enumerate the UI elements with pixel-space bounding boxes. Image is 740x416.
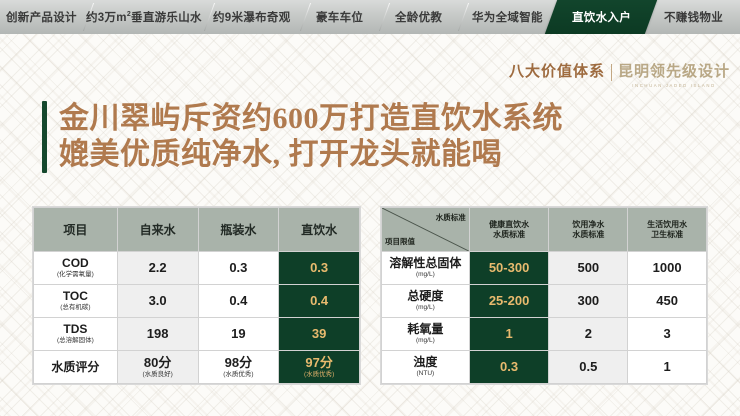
data-cell: 500 (549, 252, 628, 285)
cell-value: 300 (549, 294, 627, 308)
table-row: 浊度(NTU)0.30.51 (382, 351, 707, 384)
cell-value: 25-200 (470, 294, 549, 308)
cell-content: 1 (628, 360, 706, 374)
brand-subtitle-group: 昆明领先级设计 INCHUAN JADED ISLAND (618, 62, 730, 88)
data-cell: 0.3 (469, 351, 549, 384)
data-cell: 198 (117, 318, 198, 351)
headline-block: 金川翠屿斥资约600万打造直饮水系统 媲美优质纯净水, 打开龙头就能喝 (42, 101, 563, 173)
cell-content: 98分(水质优秀) (199, 356, 279, 379)
nav-tab-label: 豪车车位 (316, 9, 363, 25)
cell-content: 25-200 (470, 294, 549, 308)
col-header-3: 瓶装水 (198, 208, 279, 252)
row-label-cell: 水质评分 (34, 351, 118, 384)
row-label: 总硬度 (382, 290, 469, 303)
brand-title: 八大价值体系 (509, 62, 605, 82)
brand-lockup: 八大价值体系 昆明领先级设计 INCHUAN JADED ISLAND (509, 62, 730, 88)
table-body: COD(化学需氧量)2.20.30.3TOC(总有机碳)3.00.40.4TDS… (34, 252, 360, 384)
cell-value: 39 (279, 327, 359, 341)
col-header-domestic-water: 生活饮用水卫生标准 (628, 208, 707, 252)
data-cell: 2.2 (117, 252, 198, 285)
nav-tab-label: 华为全域智能 (472, 9, 543, 25)
data-cell: 3 (628, 318, 707, 351)
row-label-sub: (总溶解固体) (34, 337, 117, 345)
nav-tab-label: 全龄优教 (394, 9, 441, 25)
corner-header-bottom-label: 项目限值 (385, 236, 415, 247)
data-cell: 0.5 (549, 351, 628, 384)
data-cell: 97分(水质优秀) (279, 351, 360, 384)
cell-value: 0.3 (199, 261, 279, 275)
cell-content: 500 (549, 261, 627, 275)
cell-value: 0.3 (279, 261, 359, 275)
col-header-label: 健康直饮水水质标准 (489, 220, 529, 239)
brand-subtitle: 昆明领先级设计 (618, 62, 730, 82)
row-label-sub: (NTU) (382, 370, 469, 378)
brand-english-text: INCHUAN JADED ISLAND (632, 83, 716, 88)
table-header-row: 项目自来水瓶装水直饮水 (34, 208, 360, 252)
table-row: 耗氧量(mg/L)123 (382, 318, 707, 351)
cell-value: 19 (199, 327, 279, 341)
water-comparison-table: 项目自来水瓶装水直饮水 COD(化学需氧量)2.20.30.3TOC(总有机碳)… (33, 207, 360, 384)
col-header-purified-water: 饮用净水水质标准 (549, 208, 628, 252)
cell-value: 198 (118, 327, 198, 341)
slide-root: 创新产品设计约3万m2垂直游乐山水约9米瀑布奇观豪车车位全龄优教华为全域智能直饮… (0, 0, 740, 416)
cell-value: 97分 (279, 356, 359, 370)
cell-content: 2.2 (118, 261, 198, 275)
cell-content: 0.3 (470, 360, 549, 374)
row-label-sub: (mg/L) (382, 271, 469, 279)
headline-accent-bar (42, 101, 47, 173)
table-row: 总硬度(mg/L)25-200300450 (382, 285, 707, 318)
table-row: 溶解性总固体(mg/L)50-3005001000 (382, 252, 707, 285)
row-label: TOC (34, 290, 117, 303)
data-cell: 0.4 (279, 285, 360, 318)
data-cell: 0.4 (198, 285, 279, 318)
row-label: COD (34, 257, 117, 270)
cell-value: 80分 (118, 356, 198, 370)
cell-value-note: (水质良好) (118, 371, 198, 379)
nav-tab-label: 约3万m2垂直游乐山水 (85, 9, 201, 25)
cell-value: 1000 (628, 261, 706, 275)
cell-content: 450 (628, 294, 706, 308)
row-label-sub: (mg/L) (382, 304, 469, 312)
headline-line-1: 金川翠屿斥资约600万打造直饮水系统 (59, 101, 563, 137)
diagonal-corner-header: 水质标准 项目限值 (382, 208, 470, 252)
row-label-cell: TDS(总溶解固体) (34, 318, 118, 351)
row-label: 浊度 (382, 356, 469, 369)
nav-tab-7[interactable]: 直饮水入户 (545, 0, 658, 34)
row-label-cell: 总硬度(mg/L) (382, 285, 470, 318)
col-header-2: 自来水 (117, 208, 198, 252)
col-header-1: 项目 (34, 208, 118, 252)
data-cell: 300 (549, 285, 628, 318)
cell-content: 50-300 (470, 261, 549, 275)
water-standard-table: 水质标准 项目限值 健康直饮水水质标准 饮用净水水质标准 生活饮用水卫生标准 溶… (381, 207, 707, 384)
cell-value: 98分 (199, 356, 279, 370)
cell-value: 0.3 (470, 360, 549, 374)
data-cell: 80分(水质良好) (117, 351, 198, 384)
data-cell: 19 (198, 318, 279, 351)
table-row: 水质评分80分(水质良好)98分(水质优秀)97分(水质优秀) (34, 351, 360, 384)
cell-value: 1 (470, 327, 549, 341)
row-label-cell: TOC(总有机碳) (34, 285, 118, 318)
table-row: TOC(总有机碳)3.00.40.4 (34, 285, 360, 318)
nav-bar: 创新产品设计约3万m2垂直游乐山水约9米瀑布奇观豪车车位全龄优教华为全域智能直饮… (0, 0, 740, 34)
cell-content: 198 (118, 327, 198, 341)
cell-content: 3 (628, 327, 706, 341)
col-header-healthy-direct-drink: 健康直饮水水质标准 (469, 208, 549, 252)
cell-content: 1000 (628, 261, 706, 275)
col-header-label: 生活饮用水卫生标准 (647, 220, 687, 239)
row-label-sub: (总有机碳) (34, 304, 117, 312)
cell-content: 2 (549, 327, 627, 341)
table-row: TDS(总溶解固体)1981939 (34, 318, 360, 351)
row-label: 耗氧量 (382, 323, 469, 336)
cell-value: 2.2 (118, 261, 198, 275)
data-cell: 50-300 (469, 252, 549, 285)
cell-value: 500 (549, 261, 627, 275)
cell-value: 50-300 (470, 261, 549, 275)
corner-header-top-label: 水质标准 (436, 212, 466, 223)
cell-content: 19 (199, 327, 279, 341)
nav-tab-label: 直饮水入户 (572, 9, 631, 25)
cell-content: 0.3 (199, 261, 279, 275)
data-cell: 1 (469, 318, 549, 351)
cell-content: 80分(水质良好) (118, 356, 198, 379)
cell-content: 39 (279, 327, 359, 341)
table-header-row: 水质标准 项目限值 健康直饮水水质标准 饮用净水水质标准 生活饮用水卫生标准 (382, 208, 707, 252)
col-header-4: 直饮水 (279, 208, 360, 252)
headline-line-2: 媲美优质纯净水, 打开龙头就能喝 (59, 137, 563, 173)
data-cell: 25-200 (469, 285, 549, 318)
cell-content: 0.4 (199, 294, 279, 308)
data-cell: 3.0 (117, 285, 198, 318)
data-cell: 39 (279, 318, 360, 351)
table-row: COD(化学需氧量)2.20.30.3 (34, 252, 360, 285)
cell-content: 97分(水质优秀) (279, 356, 359, 379)
cell-value: 2 (549, 327, 627, 341)
cell-content: 0.5 (549, 360, 627, 374)
row-label-sub: (mg/L) (382, 337, 469, 345)
cell-value: 3 (628, 327, 706, 341)
data-cell: 450 (628, 285, 707, 318)
nav-tab-label: 不赚钱物业 (663, 9, 722, 25)
nav-tab-label: 创新产品设计 (6, 9, 77, 25)
row-label-cell: 浊度(NTU) (382, 351, 470, 384)
cell-content: 1 (470, 327, 549, 341)
cell-value: 0.5 (549, 360, 627, 374)
data-cell: 0.3 (198, 252, 279, 285)
data-cell: 1000 (628, 252, 707, 285)
cell-value: 1 (628, 360, 706, 374)
cell-value: 450 (628, 294, 706, 308)
row-label: TDS (34, 323, 117, 336)
cell-value: 0.4 (279, 294, 359, 308)
cell-content: 3.0 (118, 294, 198, 308)
cell-content: 300 (549, 294, 627, 308)
row-label-cell: 溶解性总固体(mg/L) (382, 252, 470, 285)
row-label-cell: 耗氧量(mg/L) (382, 318, 470, 351)
data-cell: 1 (628, 351, 707, 384)
row-label: 水质评分 (34, 361, 117, 374)
nav-tab-label: 约9米瀑布奇观 (213, 9, 291, 25)
row-label: 溶解性总固体 (382, 257, 469, 270)
col-header-label: 饮用净水水质标准 (572, 220, 604, 239)
cell-value: 0.4 (199, 294, 279, 308)
data-cell: 2 (549, 318, 628, 351)
row-label-sub: (化学需氧量) (34, 271, 117, 279)
brand-divider-icon (611, 64, 612, 81)
cell-value-note: (水质优秀) (199, 371, 279, 379)
cell-content: 0.4 (279, 294, 359, 308)
headline-text-group: 金川翠屿斥资约600万打造直饮水系统 媲美优质纯净水, 打开龙头就能喝 (59, 101, 563, 173)
cell-content: 0.3 (279, 261, 359, 275)
nav-tab-list: 创新产品设计约3万m2垂直游乐山水约9米瀑布奇观豪车车位全龄优教华为全域智能直饮… (0, 0, 740, 34)
cell-value: 3.0 (118, 294, 198, 308)
data-cell: 98分(水质优秀) (198, 351, 279, 384)
table-body: 溶解性总固体(mg/L)50-3005001000总硬度(mg/L)25-200… (382, 252, 707, 384)
cell-value-note: (水质优秀) (279, 371, 359, 379)
row-label-cell: COD(化学需氧量) (34, 252, 118, 285)
data-cell: 0.3 (279, 252, 360, 285)
